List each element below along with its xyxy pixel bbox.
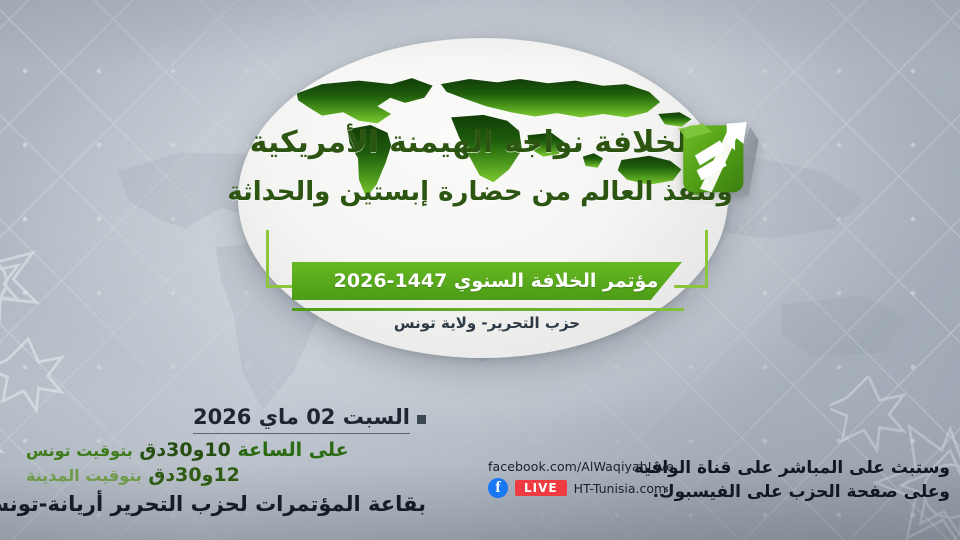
broadcast-line-1: وستبث على المباشر على قناة الواقية	[634, 456, 950, 480]
event-venue: بقاعة المؤتمرات لحزب التحرير أريانة-تونس	[26, 492, 426, 518]
broadcast-info-block: وستبث على المباشر على قناة الواقية وعلى …	[460, 456, 950, 520]
event-time-alt-row: 12و30دق بتوقيت المدينة	[26, 464, 426, 487]
square-bullet-icon	[417, 415, 426, 424]
time-local-value: 10و30دق	[139, 439, 230, 461]
conference-poster: بالخلافة نواجه الهيمنة الأمريكية وننقذ ا…	[0, 0, 960, 540]
organization-line: حزب التحرير- ولاية تونس	[252, 314, 722, 332]
broadcast-links: facebook.com/AlWaqiyahLive f LIVE HT-Tun…	[488, 459, 674, 498]
time-alt-value: 12و30دق	[148, 464, 239, 486]
conference-banner-zone: مؤتمر الخلافة السنوي 1447-2026 حزب التحر…	[252, 222, 722, 344]
conference-banner: مؤتمر الخلافة السنوي 1447-2026	[292, 262, 682, 300]
facebook-url[interactable]: facebook.com/AlWaqiyahLive	[488, 459, 674, 474]
event-info-block: السبت 02 ماي 2026 على الساعة 10و30دق بتو…	[26, 405, 426, 518]
website-url[interactable]: HT-Tunisia.com	[574, 481, 667, 496]
hizb-ut-tahrir-emblem-icon	[678, 122, 762, 214]
banner-rule	[292, 308, 684, 311]
headline-block: بالخلافة نواجه الهيمنة الأمريكية وننقذ ا…	[0, 126, 960, 207]
broadcast-line-2: وعلى صفحة الحزب على الفيسبوك.	[634, 480, 950, 504]
broadcast-arabic-text: وستبث على المباشر على قناة الواقية وعلى …	[634, 456, 950, 504]
event-date: السبت 02 ماي 2026	[193, 405, 410, 434]
website-row: f LIVE HT-Tunisia.com	[488, 478, 674, 498]
time-local-zone: بتوقيت تونس	[26, 441, 133, 460]
facebook-icon[interactable]: f	[488, 478, 508, 498]
conference-banner-text: مؤتمر الخلافة السنوي 1447-2026	[316, 270, 659, 292]
time-label: على الساعة	[237, 439, 348, 461]
bracket-decoration-right	[674, 230, 708, 288]
live-badge-icon: LIVE	[515, 480, 567, 497]
headline-line-2: وننقذ العالم من حضارة إبستين والحداثة	[0, 178, 960, 207]
event-time-local-row: على الساعة 10و30دق بتوقيت تونس	[26, 439, 426, 462]
headline-line-1: بالخلافة نواجه الهيمنة الأمريكية	[0, 126, 960, 159]
event-date-row: السبت 02 ماي 2026	[26, 405, 426, 434]
time-alt-zone: بتوقيت المدينة	[26, 466, 142, 485]
